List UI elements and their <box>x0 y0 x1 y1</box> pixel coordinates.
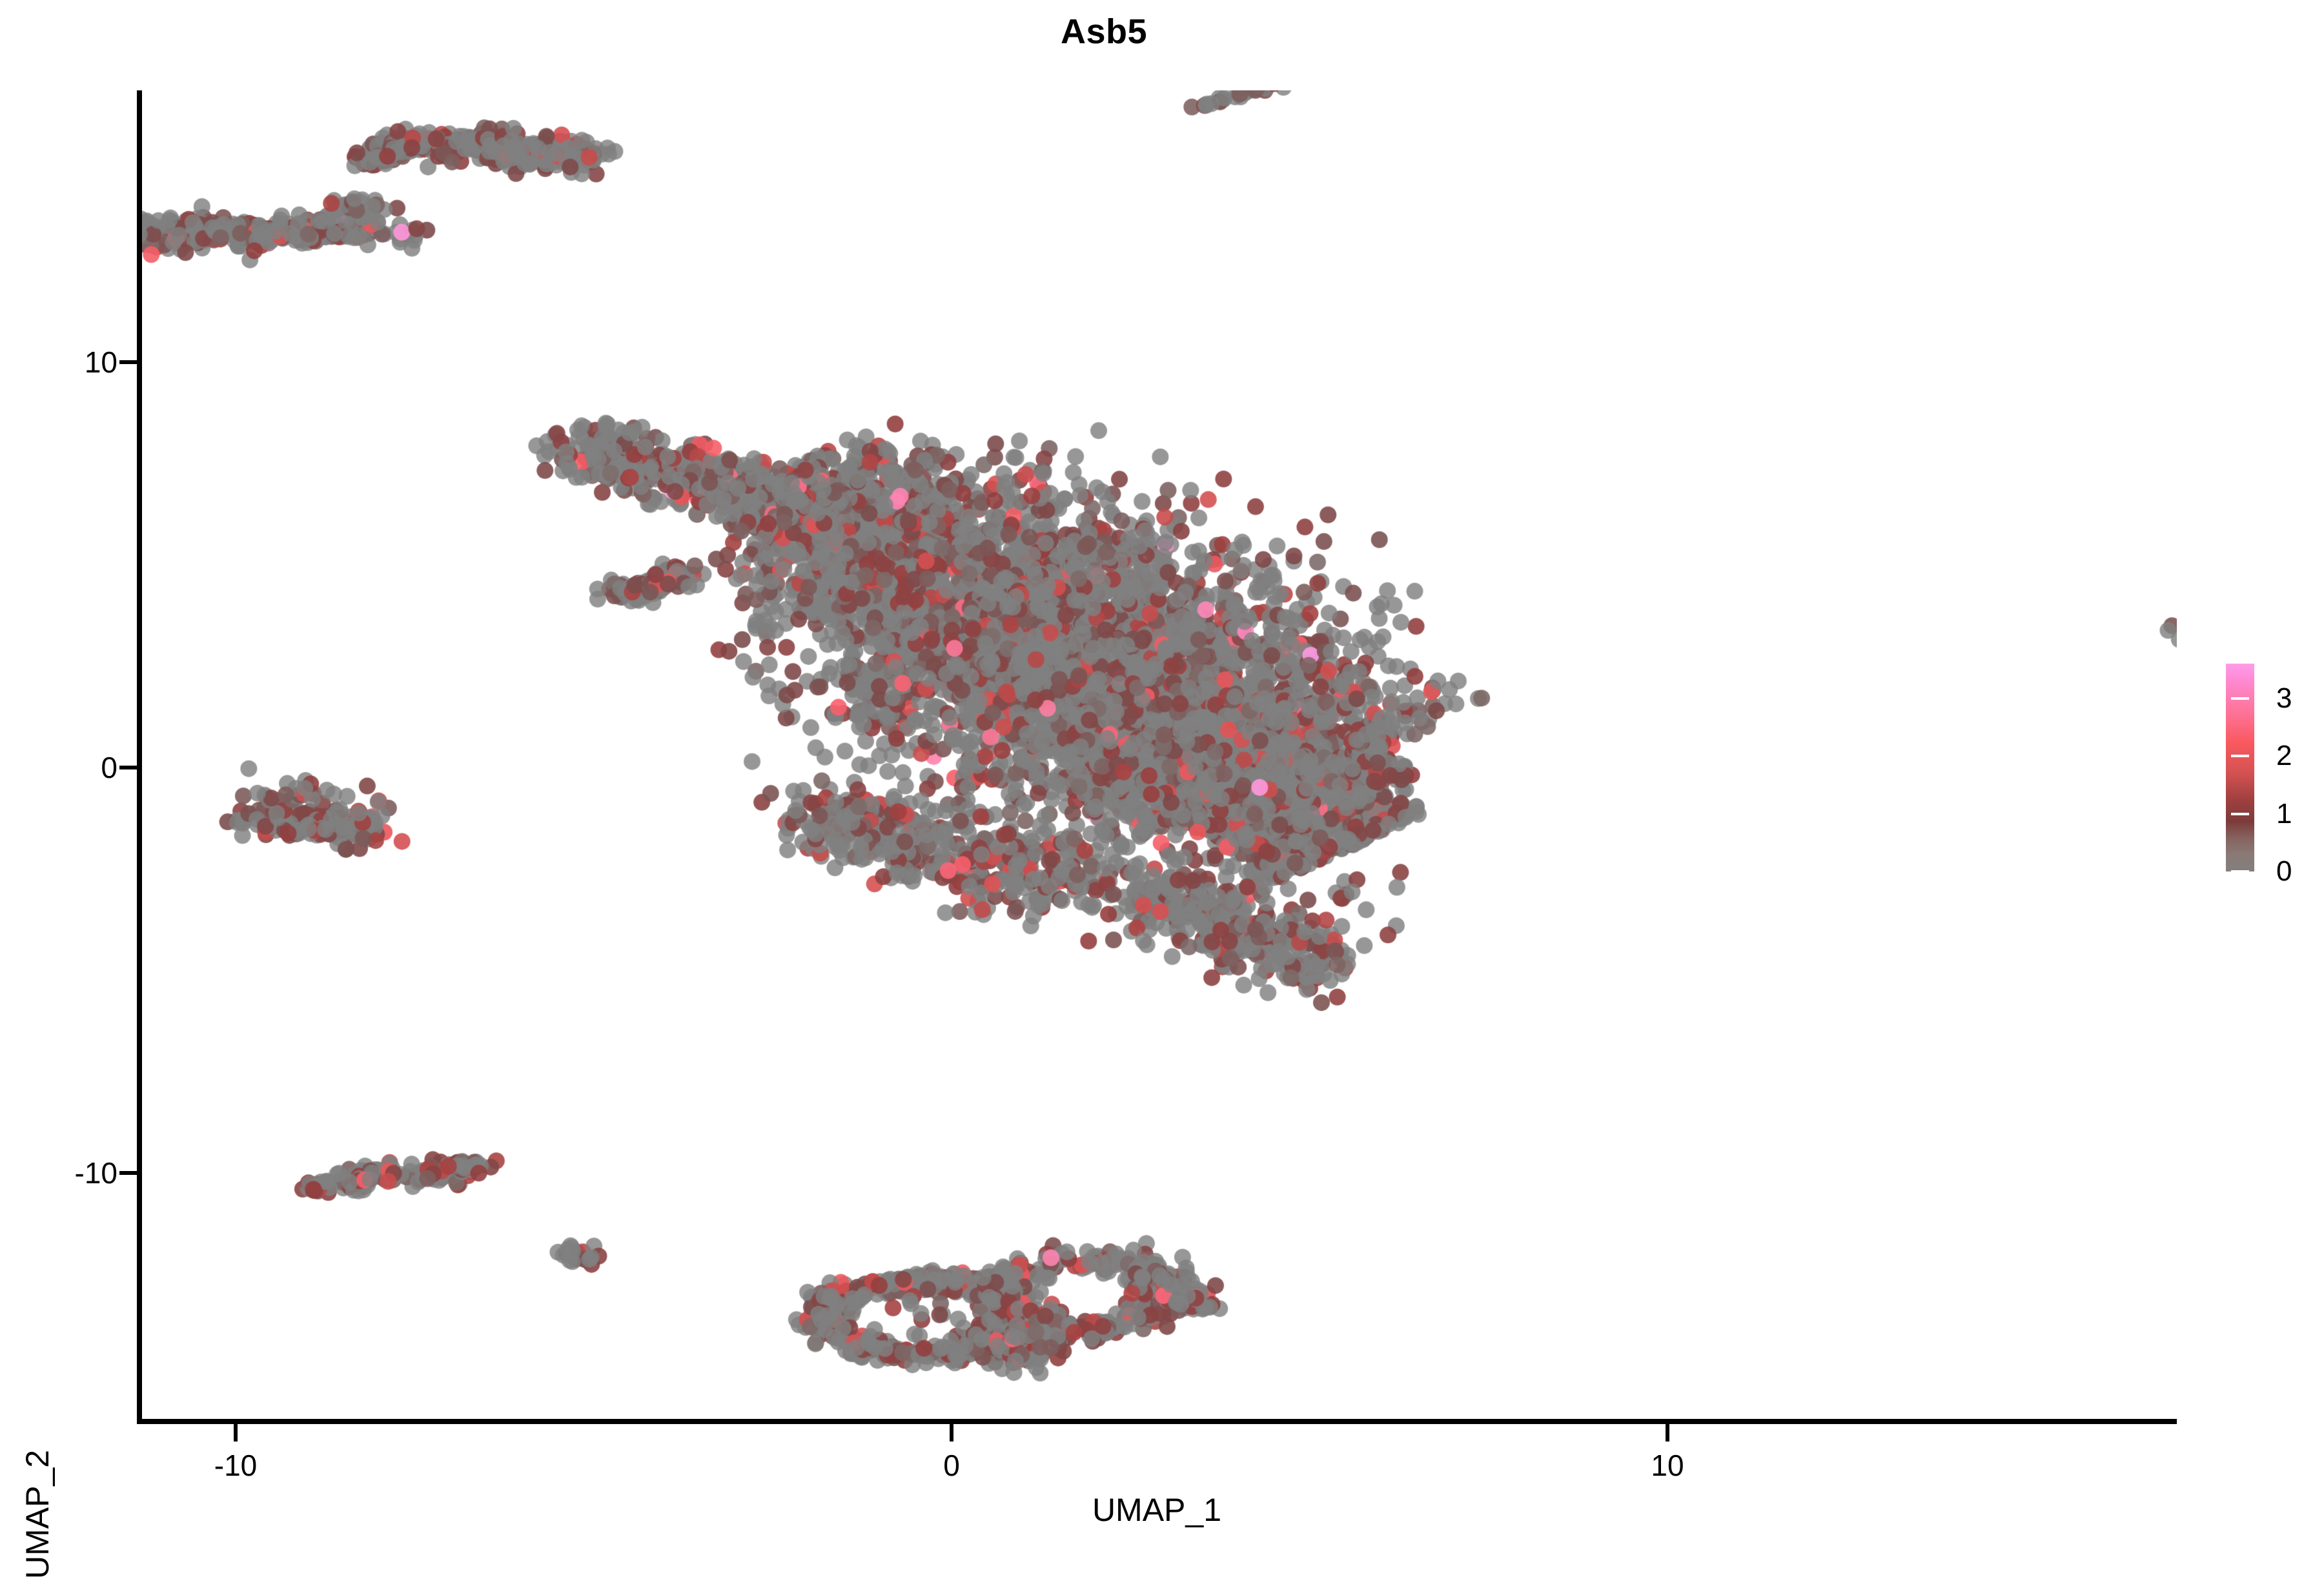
legend-tick <box>2231 697 2249 700</box>
color-legend: 3 2 1 0 <box>2226 649 2323 908</box>
x-axis-line <box>137 1419 2177 1424</box>
x-axis-tick <box>1666 1424 1669 1441</box>
legend-tick <box>2231 755 2249 757</box>
legend-colorbar <box>2226 664 2254 871</box>
legend-tick <box>2231 870 2249 873</box>
y-axis-tick-label: 0 <box>101 750 117 785</box>
y-axis-tick <box>119 1171 137 1175</box>
legend-label: 1 <box>2276 798 2292 830</box>
x-axis-tick-label: 10 <box>1651 1448 1684 1483</box>
legend-tick <box>2231 813 2249 815</box>
x-axis-title: UMAP_1 <box>137 1491 2177 1529</box>
y-axis-tick <box>119 360 137 364</box>
page-title: Asb5 <box>0 12 2208 52</box>
y-axis-tick-label: 10 <box>85 345 117 380</box>
y-axis-tick-label: -10 <box>75 1156 117 1190</box>
plot-panel <box>142 90 2177 1421</box>
x-axis-tick <box>234 1424 238 1441</box>
scatter-points-canvas <box>142 90 2177 1421</box>
x-axis-tick <box>950 1424 953 1441</box>
y-axis-line <box>137 90 142 1424</box>
legend-label: 0 <box>2276 855 2292 888</box>
umap-feature-plot: Asb5 10 0 -10 -10 0 10 UMAP_1 UMAP_2 3 2… <box>0 0 2324 1549</box>
legend-label: 3 <box>2276 682 2292 715</box>
x-axis-tick-label: 0 <box>943 1448 960 1483</box>
legend-label: 2 <box>2276 740 2292 772</box>
y-axis-title: UMAP_2 <box>19 1450 56 1579</box>
y-axis-tick <box>119 766 137 769</box>
x-axis-tick-label: -10 <box>214 1448 257 1483</box>
